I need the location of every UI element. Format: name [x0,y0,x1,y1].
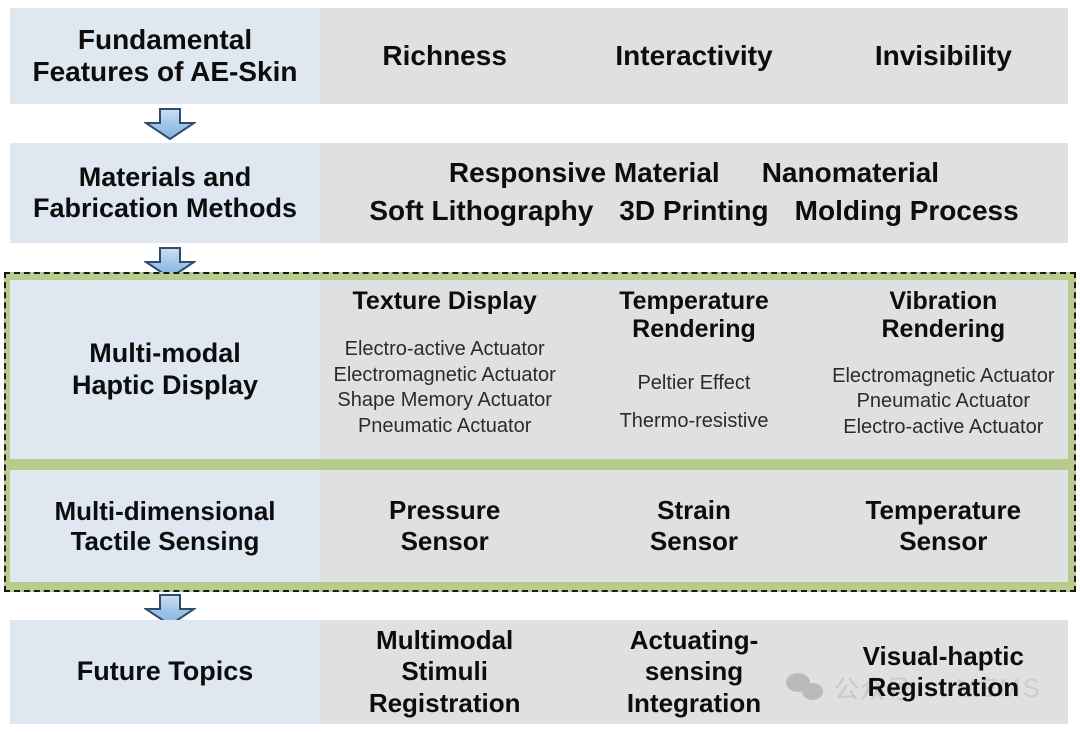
modality-texture-display: Texture Display Electro-active Actuator … [320,280,569,459]
sensor-label-line: Sensor [569,526,818,557]
row-label-fundamental-features: Fundamental Features of AE-Skin [10,8,320,104]
modality-item-list: Peltier Effect Thermo-resistive [569,345,818,459]
row-content-future-topics: Multimodal Stimuli Registration Actuatin… [320,620,1068,724]
method-3d-printing: 3D Printing [619,192,768,230]
modality-vibration-rendering: Vibration Rendering Electromagnetic Actu… [819,280,1068,459]
modality-temperature-rendering: Temperature Rendering Peltier Effect The… [569,280,818,459]
modality-title: Temperature Rendering [619,288,769,343]
modality-item-list: Electromagnetic Actuator Pneumatic Actua… [819,345,1068,459]
row-label-line: Haptic Display [72,370,258,401]
modality-item: Electro-active Actuator [843,415,1043,441]
sensor-label-line: Strain [569,495,818,526]
row-label-line: Multi-dimensional [55,496,276,526]
future-topic-line: Actuating- [569,625,818,656]
row-materials-fabrication: Materials and Fabrication Methods Respon… [10,143,1068,243]
row-label-line: Fabrication Methods [33,193,297,224]
row-label-materials-fabrication: Materials and Fabrication Methods [10,143,320,243]
future-topic-line: Visual-haptic [819,641,1068,672]
materials-line-2: Soft Lithography 3D Printing Molding Pro… [326,192,1062,230]
modality-title-line: Rendering [619,316,769,344]
future-topic-multimodal-stimuli-registration: Multimodal Stimuli Registration [320,625,569,719]
row-label-line: Multi-modal [72,338,258,369]
framework-diagram: Fundamental Features of AE-Skin Richness… [0,0,1080,732]
future-topic-line: Integration [569,688,818,719]
row-content-multimodal-haptic-display: Texture Display Electro-active Actuator … [320,280,1068,459]
sensor-pressure: Pressure Sensor [320,495,569,557]
modality-title-line: Rendering [882,316,1006,344]
sensor-label-line: Pressure [320,495,569,526]
row-label-line: Future Topics [77,656,254,687]
future-topic-line: Multimodal [320,625,569,656]
future-topic-line: sensing [569,656,818,687]
modality-title: Texture Display [353,288,537,316]
row-content-materials-fabrication: Responsive Material Nanomaterial Soft Li… [320,143,1068,243]
future-topic-line: Registration [320,688,569,719]
sensor-label-line: Sensor [819,526,1068,557]
future-topic-actuating-sensing-integration: Actuating- sensing Integration [569,625,818,719]
modality-item: Peltier Effect [637,364,750,402]
method-molding-process: Molding Process [795,192,1019,230]
row-multidimensional-tactile-sensing: Multi-dimensional Tactile Sensing Pressu… [10,470,1068,582]
sensor-strain: Strain Sensor [569,495,818,557]
row-label-multidimensional-tactile-sensing: Multi-dimensional Tactile Sensing [10,470,320,582]
row-multimodal-haptic-display: Multi-modal Haptic Display Texture Displ… [10,280,1068,459]
modality-item: Electromagnetic Actuator [333,363,555,389]
modality-item: Electromagnetic Actuator [832,364,1054,390]
modality-title-line: Texture Display [353,288,537,316]
modality-item-list: Electro-active Actuator Electromagnetic … [320,318,569,460]
feature-interactivity: Interactivity [569,40,818,72]
row-fundamental-features: Fundamental Features of AE-Skin Richness… [10,8,1068,104]
row-label-future-topics: Future Topics [10,620,320,724]
materials-line-1: Responsive Material Nanomaterial [326,154,1062,192]
row-future-topics: Future Topics Multimodal Stimuli Registr… [10,620,1068,724]
method-soft-lithography: Soft Lithography [369,192,593,230]
row-label-line: Fundamental [32,24,297,56]
row-content-multidimensional-tactile-sensing: Pressure Sensor Strain Sensor Temperatur… [320,470,1068,582]
arrow-down-icon [144,108,196,140]
row-label-line: Features of AE-Skin [32,56,297,88]
future-topic-line: Stimuli [320,656,569,687]
future-topic-line: Registration [819,672,1068,703]
modality-item: Shape Memory Actuator [337,388,552,414]
modality-title-line: Temperature [619,288,769,316]
feature-richness: Richness [320,40,569,72]
row-label-multimodal-haptic-display: Multi-modal Haptic Display [10,280,320,459]
row-label-line: Tactile Sensing [55,526,276,556]
sensor-label-line: Temperature [819,495,1068,526]
modality-item: Electro-active Actuator [345,337,545,363]
material-nanomaterial: Nanomaterial [762,154,939,192]
material-responsive-material: Responsive Material [449,154,720,192]
row-content-fundamental-features: Richness Interactivity Invisibility [320,8,1068,104]
row-label-line: Materials and [33,162,297,193]
modality-item: Pneumatic Actuator [358,414,531,440]
modality-title: Vibration Rendering [882,288,1006,343]
modality-title-line: Vibration [882,288,1006,316]
feature-invisibility: Invisibility [819,40,1068,72]
modality-item: Thermo-resistive [620,402,769,440]
future-topic-visual-haptic-registration: Visual-haptic Registration [819,641,1068,703]
modality-item: Pneumatic Actuator [857,389,1030,415]
sensor-label-line: Sensor [320,526,569,557]
sensor-temperature: Temperature Sensor [819,495,1068,557]
